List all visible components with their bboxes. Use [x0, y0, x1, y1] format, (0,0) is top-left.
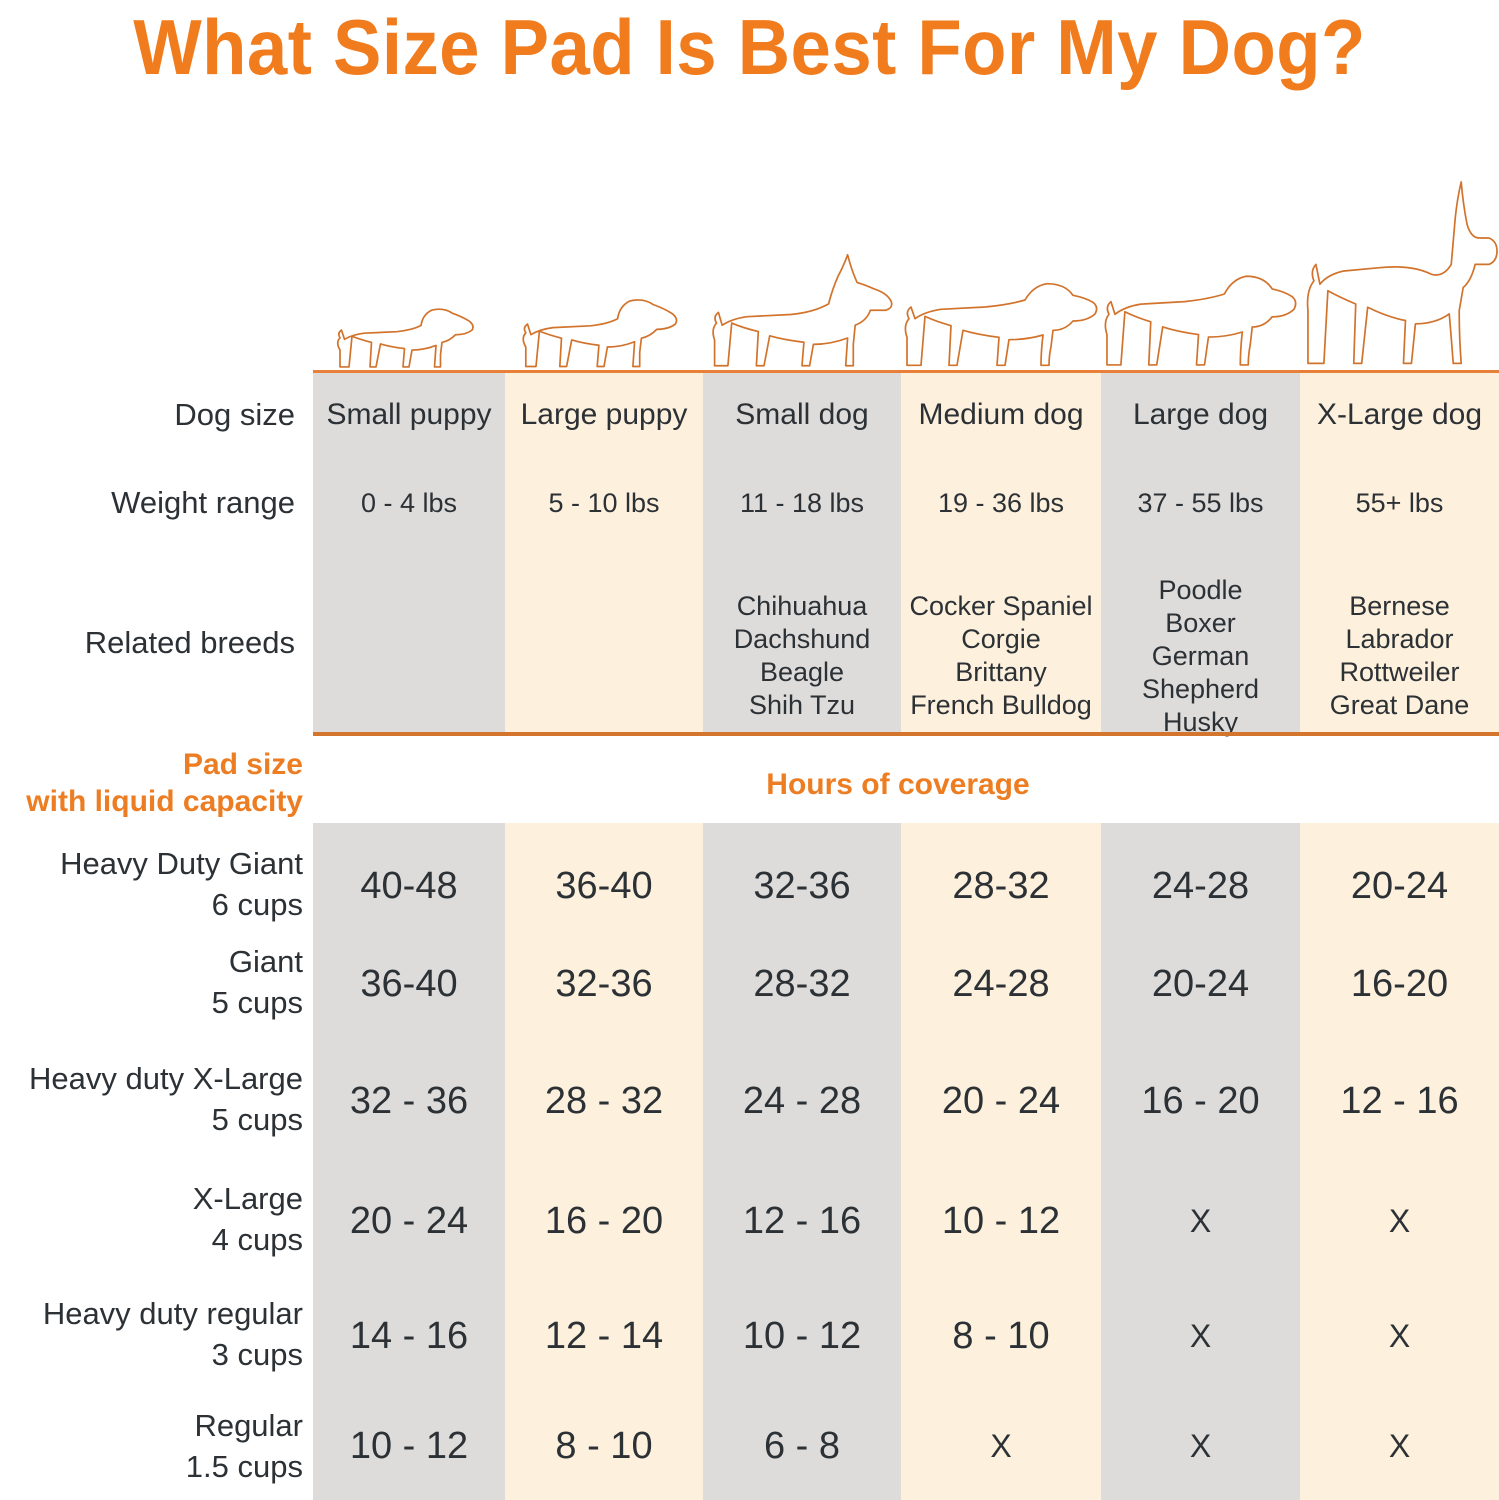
- breed-name: Cocker Spaniel: [901, 590, 1101, 623]
- column-background: [1101, 823, 1300, 1500]
- cell-not-recommended: X: [1101, 1423, 1300, 1469]
- table-top-rule: [313, 370, 1499, 373]
- dog-size-table: Dog sizeWeight rangeRelated breedsSmall …: [0, 370, 1499, 735]
- cell-related-breeds: ChihuahuaDachshundBeagleShih Tzu: [703, 590, 901, 722]
- pad-size-capacity: 5 cups: [0, 982, 303, 1023]
- cell-weight-range: 5 - 10 lbs: [505, 486, 703, 520]
- cell-related-breeds: BerneseLabradorRottweilerGreat Dane: [1300, 590, 1499, 722]
- dog-silhouette-band: [313, 150, 1499, 370]
- cell-hours-of-coverage: 20 - 24: [901, 1078, 1101, 1124]
- pad-size-name: X-Large: [0, 1178, 303, 1219]
- pad-size-name: Heavy Duty Giant: [0, 843, 303, 884]
- cell-hours-of-coverage: 12 - 16: [1300, 1078, 1499, 1124]
- cell-hours-of-coverage: 10 - 12: [703, 1313, 901, 1359]
- pad-size-row-label: X-Large4 cups: [0, 1178, 303, 1260]
- cell-hours-of-coverage: 24 - 28: [703, 1078, 901, 1124]
- cell-not-recommended: X: [1101, 1198, 1300, 1244]
- cell-hours-of-coverage: 24-28: [901, 961, 1101, 1007]
- page-title: What Size Pad Is Best For My Dog?: [52, 4, 1446, 90]
- breed-name: German: [1101, 640, 1300, 673]
- pad-size-row-label: Heavy Duty Giant6 cups: [0, 843, 303, 925]
- cell-related-breeds: Cocker SpanielCorgieBrittanyFrench Bulld…: [901, 590, 1101, 722]
- breed-name: Brittany: [901, 656, 1101, 689]
- pad-size-name: Heavy duty regular: [0, 1293, 303, 1334]
- pad-size-capacity: 3 cups: [0, 1334, 303, 1375]
- pad-size-row-label: Regular1.5 cups: [0, 1405, 303, 1487]
- hours-of-coverage-label: Hours of coverage: [305, 766, 1491, 803]
- cell-hours-of-coverage: 10 - 12: [901, 1198, 1101, 1244]
- breed-name: Beagle: [703, 656, 901, 689]
- coverage-table: Heavy Duty Giant6 cups40-4836-4032-3628-…: [0, 823, 1499, 1500]
- cell-hours-of-coverage: 24-28: [1101, 863, 1300, 909]
- cell-hours-of-coverage: 16 - 20: [505, 1198, 703, 1244]
- cell-not-recommended: X: [1300, 1198, 1499, 1244]
- column-header-dog-size: Large dog: [1101, 396, 1300, 434]
- column-background: [313, 823, 505, 1500]
- cell-weight-range: 37 - 55 lbs: [1101, 486, 1300, 520]
- pad-size-name: Giant: [0, 941, 303, 982]
- row-label-dog-size: Dog size: [0, 396, 295, 434]
- breed-name: Dachshund: [703, 623, 901, 656]
- cell-weight-range: 11 - 18 lbs: [703, 486, 901, 520]
- cell-not-recommended: X: [901, 1423, 1101, 1469]
- pad-size-capacity: 4 cups: [0, 1219, 303, 1260]
- row-label-related-breeds: Related breeds: [0, 624, 295, 662]
- cell-hours-of-coverage: 32-36: [505, 961, 703, 1007]
- cell-related-breeds: PoodleBoxerGermanShepherdHusky: [1101, 574, 1300, 739]
- pad-size-row-label: Heavy duty regular3 cups: [0, 1293, 303, 1375]
- pad-size-row-label: Giant5 cups: [0, 941, 303, 1023]
- cell-hours-of-coverage: 12 - 16: [703, 1198, 901, 1244]
- cell-hours-of-coverage: 16-20: [1300, 961, 1499, 1007]
- column-background: [505, 823, 703, 1500]
- pad-size-capacity: 5 cups: [0, 1099, 303, 1140]
- breed-name: Boxer: [1101, 607, 1300, 640]
- pad-size-label: Pad size with liquid capacity: [0, 746, 303, 820]
- column-header-dog-size: Small dog: [703, 396, 901, 434]
- cell-hours-of-coverage: 6 - 8: [703, 1423, 901, 1469]
- cell-hours-of-coverage: 32 - 36: [313, 1078, 505, 1124]
- cell-hours-of-coverage: 36-40: [313, 961, 505, 1007]
- cell-weight-range: 0 - 4 lbs: [313, 486, 505, 520]
- pad-size-capacity: 1.5 cups: [0, 1446, 303, 1487]
- small-dog-icon: [703, 150, 901, 370]
- breed-name: Labrador: [1300, 623, 1499, 656]
- breed-name: French Bulldog: [901, 689, 1101, 722]
- pad-size-label-line2: with liquid capacity: [0, 783, 303, 820]
- breed-name: Bernese: [1300, 590, 1499, 623]
- cell-hours-of-coverage: 20-24: [1101, 961, 1300, 1007]
- cell-hours-of-coverage: 16 - 20: [1101, 1078, 1300, 1124]
- cell-not-recommended: X: [1101, 1313, 1300, 1359]
- breed-name: Chihuahua: [703, 590, 901, 623]
- pad-size-label-line1: Pad size: [0, 746, 303, 783]
- large-dog-icon: [1101, 150, 1300, 370]
- column-header-dog-size: Large puppy: [505, 396, 703, 434]
- cell-hours-of-coverage: 14 - 16: [313, 1313, 505, 1359]
- breed-name: Shih Tzu: [703, 689, 901, 722]
- column-header-dog-size: X-Large dog: [1300, 396, 1499, 434]
- pad-size-row-label: Heavy duty X-Large5 cups: [0, 1058, 303, 1140]
- cell-hours-of-coverage: 28 - 32: [505, 1078, 703, 1124]
- cell-hours-of-coverage: 40-48: [313, 863, 505, 909]
- cell-hours-of-coverage: 20 - 24: [313, 1198, 505, 1244]
- row-label-weight-range: Weight range: [0, 484, 295, 522]
- cell-not-recommended: X: [1300, 1423, 1499, 1469]
- column-header-dog-size: Medium dog: [901, 396, 1101, 434]
- large-puppy-dog-icon: [505, 150, 703, 370]
- medium-dog-icon: [901, 150, 1101, 370]
- breed-name: Poodle: [1101, 574, 1300, 607]
- pad-size-capacity: 6 cups: [0, 884, 303, 925]
- cell-hours-of-coverage: 28-32: [901, 863, 1101, 909]
- cell-hours-of-coverage: 20-24: [1300, 863, 1499, 909]
- small-puppy-dog-icon: [313, 150, 505, 370]
- cell-hours-of-coverage: 8 - 10: [901, 1313, 1101, 1359]
- breed-name: Shepherd: [1101, 673, 1300, 706]
- column-background: [703, 823, 901, 1500]
- cell-hours-of-coverage: 10 - 12: [313, 1423, 505, 1469]
- column-background: [901, 823, 1101, 1500]
- cell-weight-range: 19 - 36 lbs: [901, 486, 1101, 520]
- cell-weight-range: 55+ lbs: [1300, 486, 1499, 520]
- x-large-dog-icon: [1300, 150, 1499, 370]
- cell-hours-of-coverage: 28-32: [703, 961, 901, 1007]
- cell-hours-of-coverage: 36-40: [505, 863, 703, 909]
- column-header-dog-size: Small puppy: [313, 396, 505, 434]
- breed-name: Corgie: [901, 623, 1101, 656]
- pad-size-band: Pad size with liquid capacity Hours of c…: [0, 740, 1499, 823]
- pad-size-name: Regular: [0, 1405, 303, 1446]
- cell-not-recommended: X: [1300, 1313, 1499, 1359]
- cell-hours-of-coverage: 8 - 10: [505, 1423, 703, 1469]
- breed-name: Rottweiler: [1300, 656, 1499, 689]
- cell-hours-of-coverage: 12 - 14: [505, 1313, 703, 1359]
- column-background: [1300, 823, 1499, 1500]
- pad-size-name: Heavy duty X-Large: [0, 1058, 303, 1099]
- table-bottom-rule: [313, 732, 1499, 736]
- cell-hours-of-coverage: 32-36: [703, 863, 901, 909]
- breed-name: Great Dane: [1300, 689, 1499, 722]
